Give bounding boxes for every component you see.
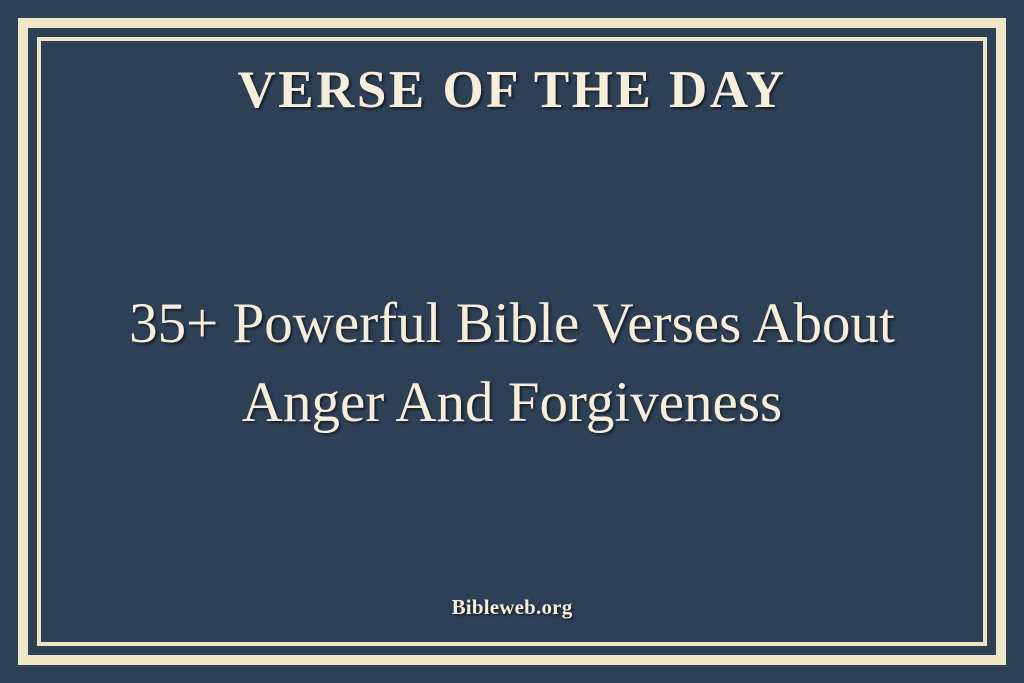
poster-frame-inner-line: VERSE OF THE DAY 35+ Powerful Bible Vers… <box>37 37 987 646</box>
verse-of-the-day-poster: VERSE OF THE DAY 35+ Powerful Bible Vers… <box>0 0 1024 683</box>
poster-headline-block: 35+ Powerful Bible Verses About Anger An… <box>71 285 953 442</box>
poster-content: VERSE OF THE DAY 35+ Powerful Bible Vers… <box>41 41 983 642</box>
poster-kicker: VERSE OF THE DAY <box>41 63 983 119</box>
page-title: 35+ Powerful Bible Verses About Anger An… <box>71 285 953 442</box>
poster-frame-gap: VERSE OF THE DAY 35+ Powerful Bible Vers… <box>28 28 996 655</box>
poster-frame-outer-band: VERSE OF THE DAY 35+ Powerful Bible Vers… <box>18 18 1006 665</box>
poster-footer-brand: Bibleweb.org <box>41 595 983 620</box>
